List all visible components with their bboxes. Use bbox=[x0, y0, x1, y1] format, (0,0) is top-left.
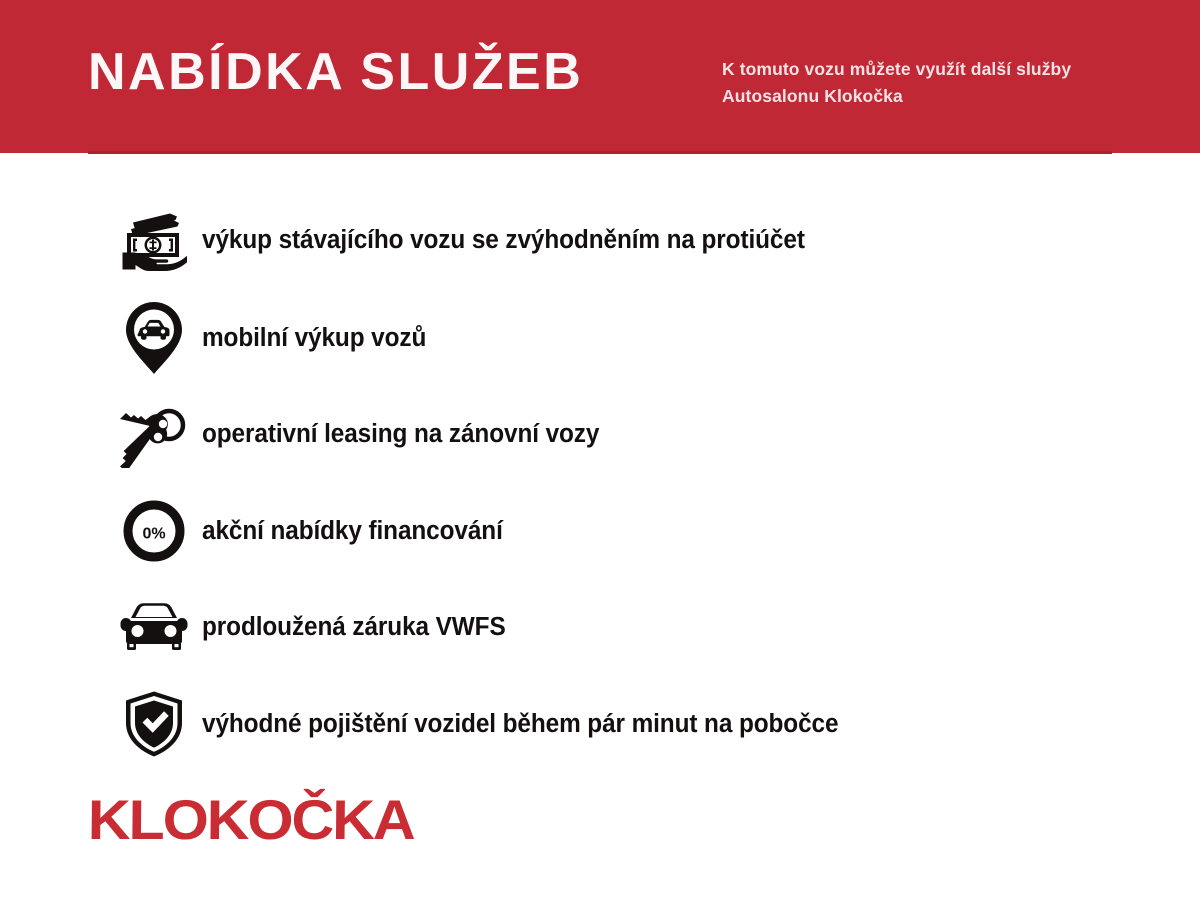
header-banner: NABÍDKA SLUŽEB K tomuto vozu můžete využ… bbox=[0, 0, 1200, 153]
klokocka-logo: KLOKOČKA bbox=[88, 792, 396, 854]
cash-in-hand-icon bbox=[116, 200, 192, 280]
list-item: prodloužená záruka VWFS bbox=[116, 584, 520, 670]
services-offer-slide: NABÍDKA SLUŽEB K tomuto vozu můžete využ… bbox=[0, 0, 1200, 899]
list-item: 0% akční nabídky financování bbox=[116, 488, 517, 574]
list-item: výhodné pojištění vozidel během pár minu… bbox=[116, 681, 868, 767]
header-subtitle-line-1: K tomuto vozu můžete využít další služby bbox=[722, 56, 1142, 83]
list-item-label: výkup stávajícího vozu se zvýhodněním na… bbox=[202, 226, 805, 255]
car-front-icon bbox=[116, 587, 192, 667]
list-item: operativní leasing na zánovní vozy bbox=[116, 391, 618, 477]
map-pin-car-icon bbox=[116, 298, 192, 378]
list-item-label: mobilní výkup vozů bbox=[202, 324, 426, 353]
list-item: mobilní výkup vozů bbox=[116, 295, 437, 381]
list-item: výkup stávajícího vozu se zvýhodněním na… bbox=[116, 197, 833, 283]
list-item-label: akční nabídky financování bbox=[202, 517, 503, 546]
header-subtitle-line-2: Autosalonu Klokočka bbox=[722, 83, 1142, 110]
page-title: NABÍDKA SLUŽEB bbox=[88, 46, 583, 98]
header-subtitle: K tomuto vozu můžete využít další služby… bbox=[722, 56, 1142, 110]
list-item-label: operativní leasing na zánovní vozy bbox=[202, 420, 599, 449]
zero-percent-circle-icon: 0% bbox=[116, 491, 192, 571]
list-item-label: prodloužená záruka VWFS bbox=[202, 613, 506, 642]
header-divider bbox=[88, 151, 1112, 154]
car-keys-icon bbox=[116, 394, 192, 474]
zero-percent-label: 0% bbox=[142, 526, 165, 543]
shield-check-icon bbox=[116, 684, 192, 764]
list-item-label: výhodné pojištění vozidel během pár minu… bbox=[202, 710, 838, 739]
logo-text: KLOKOČKA bbox=[87, 792, 414, 848]
